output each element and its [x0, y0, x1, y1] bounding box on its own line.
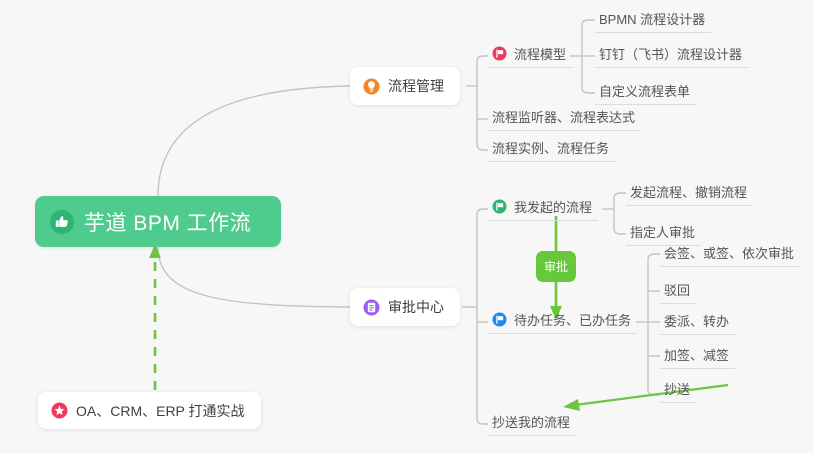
wire-todo-c5: [648, 390, 660, 395]
flag-icon: [492, 46, 507, 61]
wire-process-c3: [477, 144, 488, 150]
wire-approval-c3: [477, 419, 488, 424]
node-label: 会签、或签、依次审批: [664, 243, 794, 262]
wire-todo-c1: [648, 254, 660, 259]
card-integration-label: OA、CRM、ERP 打通实战: [76, 401, 245, 421]
wire-model-c1: [582, 20, 595, 25]
branch-approval-center[interactable]: 审批中心: [350, 288, 460, 326]
annotation-arrow-cc: [563, 385, 728, 411]
node-start-cancel[interactable]: 发起流程、撤销流程: [626, 182, 753, 206]
node-label: 待办任务、已办任务: [514, 310, 631, 329]
wire-approval-c1: [477, 209, 488, 214]
wire-root-to-approval: [158, 247, 350, 307]
wire-model-c3: [582, 88, 595, 93]
branch-process-management[interactable]: 流程管理: [350, 67, 460, 105]
annotation-badge-approve[interactable]: 审批: [536, 251, 576, 282]
node-label: 钉钉（飞书）流程设计器: [599, 44, 742, 63]
root-node[interactable]: 芋道 BPM 工作流: [35, 196, 281, 247]
node-label: 流程实例、流程任务: [492, 138, 609, 157]
node-label: 指定人审批: [630, 222, 695, 241]
lightbulb-icon: [363, 78, 380, 95]
node-my-initiated[interactable]: 我发起的流程: [488, 197, 598, 221]
node-label: 驳回: [664, 280, 690, 299]
node-reject[interactable]: 驳回: [660, 280, 696, 304]
node-label: 抄送: [664, 379, 690, 398]
node-todo-done[interactable]: 待办任务、已办任务: [488, 310, 637, 334]
node-listener-expression[interactable]: 流程监听器、流程表达式: [488, 107, 641, 131]
node-instance-task[interactable]: 流程实例、流程任务: [488, 138, 615, 162]
wire-root-to-process: [158, 86, 350, 196]
thumbs-up-icon: [49, 209, 75, 235]
wire-process-c1: [477, 56, 488, 61]
card-integration-practice[interactable]: OA、CRM、ERP 打通实战: [38, 392, 261, 429]
node-cc-to-me[interactable]: 抄送我的流程: [488, 412, 576, 436]
flag-icon: [492, 312, 507, 327]
node-cc[interactable]: 抄送: [660, 379, 696, 403]
node-label: 自定义流程表单: [599, 81, 690, 100]
flag-icon: [492, 199, 507, 214]
node-label: BPMN 流程设计器: [599, 9, 705, 28]
node-dingtalk-designer[interactable]: 钉钉（飞书）流程设计器: [595, 44, 748, 68]
node-process-model[interactable]: 流程模型: [488, 44, 572, 68]
node-delegate-transfer[interactable]: 委派、转办: [660, 311, 735, 335]
star-icon: [51, 402, 68, 419]
wire-init-c1: [614, 193, 626, 198]
mindmap-canvas: 芋道 BPM 工作流 流程管理 流程模型 BPMN 流程设计器 钉钉（飞书）流程: [0, 0, 814, 453]
node-bpmn-designer[interactable]: BPMN 流程设计器: [595, 9, 711, 33]
branch-label: 审批中心: [388, 297, 444, 317]
node-label: 加签、减签: [664, 345, 729, 364]
annotation-arrow-integration: [149, 244, 161, 390]
node-label: 流程模型: [514, 44, 566, 63]
node-label: 委派、转办: [664, 311, 729, 330]
clipboard-icon: [363, 299, 380, 316]
node-multi-sign[interactable]: 会签、或签、依次审批: [660, 243, 800, 267]
node-label: 流程监听器、流程表达式: [492, 107, 635, 126]
wire-init-c2: [614, 229, 626, 234]
branch-label: 流程管理: [388, 76, 444, 96]
node-label: 抄送我的流程: [492, 412, 570, 431]
node-label: 发起流程、撤销流程: [630, 182, 747, 201]
node-custom-form[interactable]: 自定义流程表单: [595, 81, 696, 105]
node-label: 我发起的流程: [514, 197, 592, 216]
node-add-remove-sign[interactable]: 加签、减签: [660, 345, 735, 369]
root-label: 芋道 BPM 工作流: [84, 207, 251, 237]
annotation-badge-label: 审批: [544, 258, 568, 275]
